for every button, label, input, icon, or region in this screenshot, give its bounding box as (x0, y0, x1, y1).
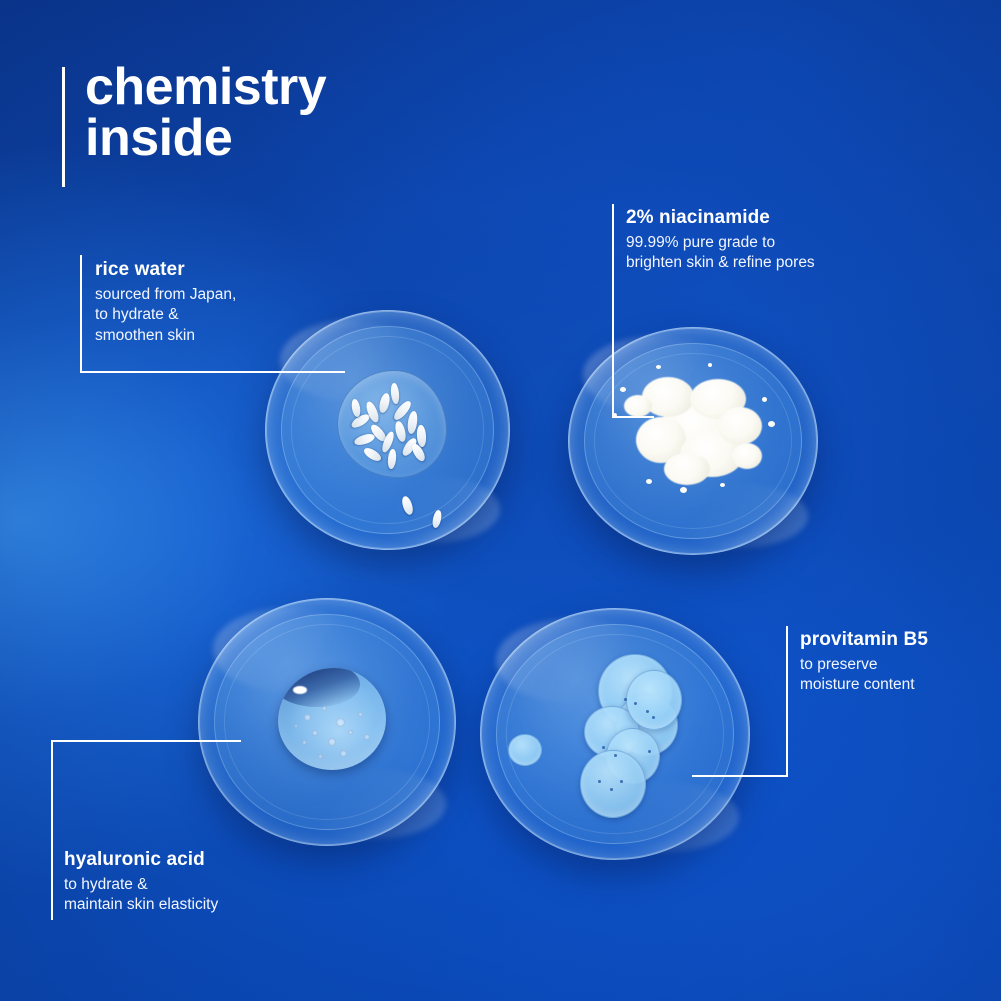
connector-line-niacinamide-vertical (612, 204, 614, 418)
gel-bubble (336, 718, 345, 727)
connector-line-niacinamide-horizontal (612, 416, 654, 418)
gel-bubble (302, 740, 307, 745)
dish-highlight-bottomright (363, 476, 500, 543)
powder-speck (708, 363, 712, 367)
connector-line-provitamin-b5-horizontal (692, 775, 788, 777)
powder-speck (656, 365, 661, 369)
callout-description-niacinamide: 99.99% pure grade to brighten skin & ref… (626, 233, 815, 274)
powder-puff (718, 407, 762, 445)
serum-dot (614, 754, 617, 757)
dish-highlight-bottomright (301, 769, 445, 838)
page-title: chemistry inside (85, 62, 326, 164)
powder-puff (624, 395, 652, 417)
rice-grain (362, 446, 383, 464)
serum-dot (624, 698, 627, 701)
callout-title-niacinamide: 2% niacinamide (626, 206, 815, 230)
petri-dish-niacinamide (568, 327, 818, 555)
title-accent-rule (62, 67, 65, 187)
gel-bubble (322, 706, 327, 711)
gel-bubble (294, 724, 298, 728)
petri-dish-hyaluronic-acid (198, 598, 456, 846)
gel-bubble (304, 714, 311, 721)
serum-dot (610, 788, 613, 791)
connector-line-rice-water-vertical (80, 255, 82, 373)
petri-dish-provitamin-b5 (480, 608, 750, 860)
serum-lobe-right (626, 670, 682, 730)
provitamin-b5-serum-blob (572, 654, 690, 820)
gel-bubble (318, 754, 323, 759)
rice-grain (378, 392, 392, 414)
powder-speck (720, 483, 725, 487)
rice-grain (387, 449, 397, 470)
poster-canvas: chemistry inside rice water sourced from… (0, 0, 1001, 1001)
provitamin-b5-small-droplet (508, 734, 542, 766)
powder-speck (762, 397, 767, 402)
gel-specular-highlight (293, 686, 307, 694)
rice-grain (390, 383, 400, 405)
rice-grain (394, 420, 408, 443)
powder-speck (646, 479, 652, 484)
callout-description-hyaluronic-acid: to hydrate & maintain skin elasticity (64, 875, 218, 916)
callout-hyaluronic-acid: hyaluronic acid to hydrate & maintain sk… (64, 848, 218, 916)
powder-speck (680, 487, 687, 493)
petri-dish-rice-water (265, 310, 510, 550)
niacinamide-powder-clump (620, 361, 772, 493)
gel-bubble (328, 738, 336, 746)
rice-grain (350, 398, 361, 417)
connector-line-provitamin-b5-vertical (786, 626, 788, 777)
connector-line-hyaluronic-acid-vertical (51, 740, 53, 920)
gel-bubble (340, 750, 347, 757)
dish-highlight-bottomright (668, 484, 808, 548)
callout-title-hyaluronic-acid: hyaluronic acid (64, 848, 218, 872)
callout-provitamin-b5: provitamin B5 to preserve moisture conte… (800, 628, 928, 696)
powder-speck (620, 387, 626, 392)
callout-title-rice-water: rice water (95, 258, 236, 282)
callout-description-provitamin-b5: to preserve moisture content (800, 655, 928, 696)
serum-dot (646, 710, 649, 713)
serum-dot (648, 750, 651, 753)
callout-niacinamide: 2% niacinamide 99.99% pure grade to brig… (626, 206, 815, 274)
gel-bubble (364, 734, 370, 740)
serum-dot (652, 716, 655, 719)
serum-dot (602, 746, 605, 749)
serum-dot (620, 780, 623, 783)
gel-bubble (312, 730, 318, 736)
page-title-block: chemistry inside (62, 62, 326, 164)
rice-grain (353, 432, 376, 447)
callout-rice-water: rice water sourced from Japan, to hydrat… (95, 258, 236, 346)
powder-puff (664, 453, 710, 485)
hyaluronic-acid-gel-droplet (278, 668, 386, 770)
connector-line-hyaluronic-acid-horizontal (51, 740, 241, 742)
gel-bubble (348, 730, 353, 735)
connector-line-rice-water-horizontal (80, 371, 345, 373)
callout-description-rice-water: sourced from Japan, to hydrate & smoothe… (95, 285, 236, 346)
serum-lobe-bottom (580, 750, 646, 818)
callout-title-provitamin-b5: provitamin B5 (800, 628, 928, 652)
powder-puff (732, 443, 762, 469)
serum-dot (598, 780, 601, 783)
serum-dot (634, 702, 637, 705)
powder-speck (768, 421, 775, 427)
gel-bubble (358, 712, 363, 717)
